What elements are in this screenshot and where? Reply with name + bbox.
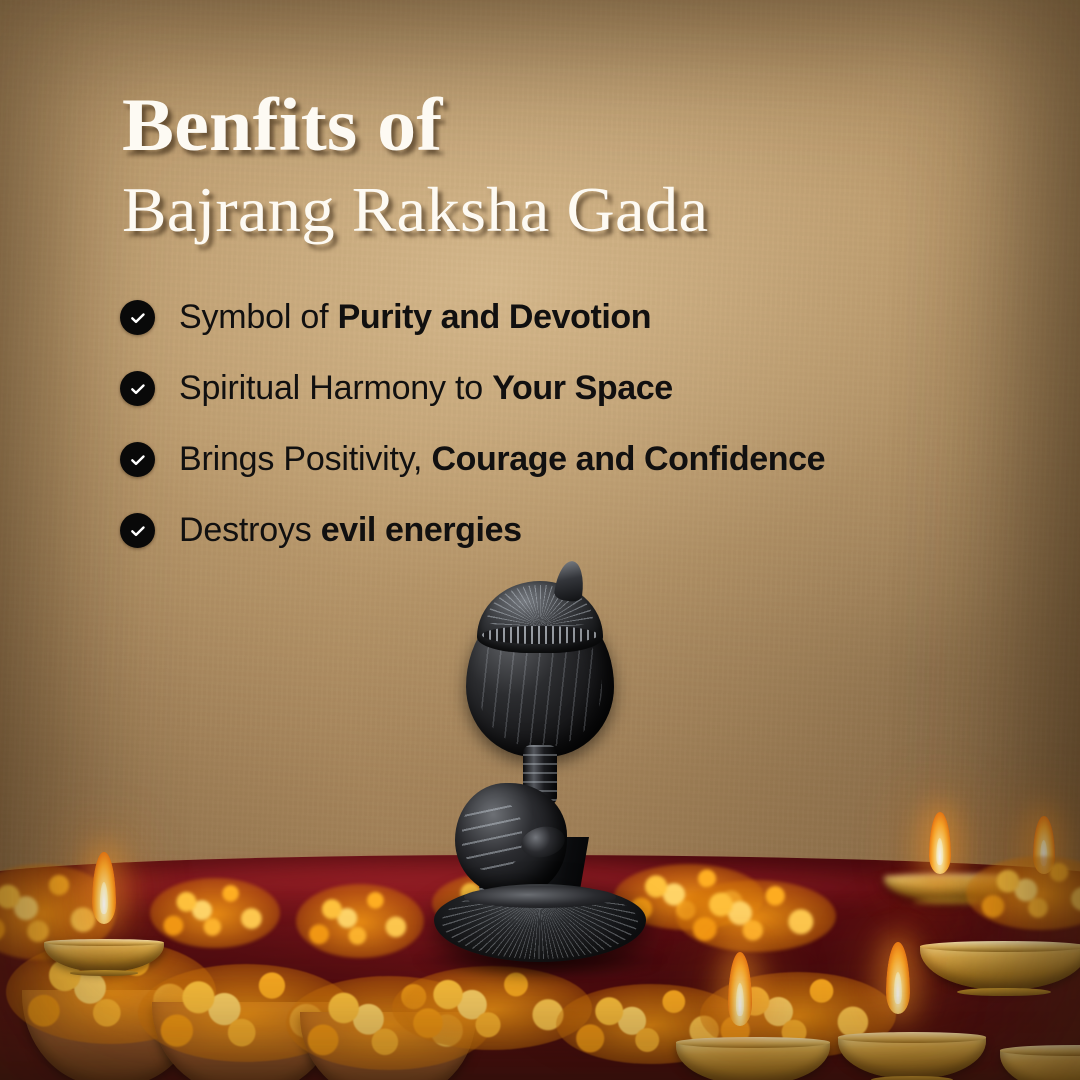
benefit-label: Brings Positivity, Courage and Confidenc… [179, 440, 825, 479]
check-circle-icon [120, 371, 155, 406]
benefit-emphasis: Purity and Devotion [338, 298, 652, 336]
benefits-list: Symbol of Purity and DevotionSpiritual H… [120, 282, 1020, 566]
title-line-1: Benfits of [122, 88, 1016, 163]
benefit-label: Spiritual Harmony to Your Space [179, 369, 673, 408]
benefit-emphasis: Your Space [492, 369, 673, 407]
check-circle-icon [120, 300, 155, 335]
benefit-label: Symbol of Purity and Devotion [179, 298, 651, 337]
check-circle-icon [120, 442, 155, 477]
benefit-item: Symbol of Purity and Devotion [120, 282, 1020, 353]
page-title: Benfits of Bajrang Raksha Gada [122, 88, 982, 242]
benefit-label: Destroys evil energies [179, 511, 522, 550]
check-circle-icon [120, 513, 155, 548]
promo-banner: Benfits of Bajrang Raksha Gada Symbol of… [0, 0, 1080, 1080]
benefit-item: Spiritual Harmony to Your Space [120, 353, 1020, 424]
benefit-emphasis: Courage and Confidence [432, 440, 826, 478]
benefit-emphasis: evil energies [321, 511, 522, 549]
benefit-item: Brings Positivity, Courage and Confidenc… [120, 424, 1020, 495]
title-line-2: Bajrang Raksha Gada [122, 179, 1034, 242]
benefit-item: Destroys evil energies [120, 495, 1020, 566]
